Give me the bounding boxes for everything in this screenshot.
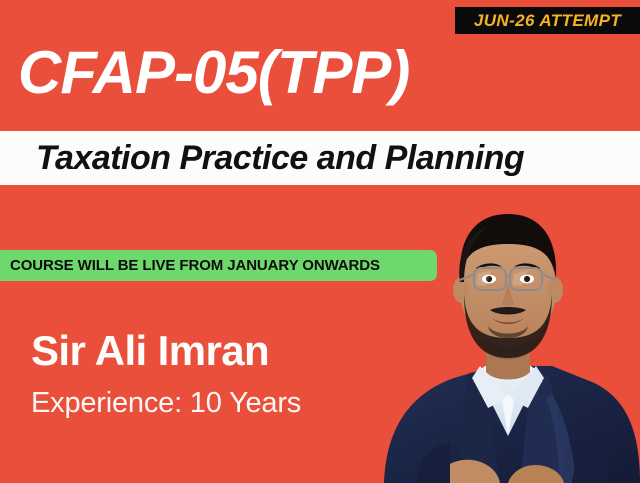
course-subtitle: Taxation Practice and Planning — [36, 139, 524, 178]
live-course-banner: COURSE WILL BE LIVE FROM JANUARY ONWARDS — [0, 250, 437, 281]
instructor-photo — [376, 186, 640, 483]
subtitle-band: Taxation Practice and Planning — [0, 131, 640, 185]
instructor-experience: Experience: 10 Years — [31, 386, 301, 420]
attempt-badge-label: JUN-26 ATTEMPT — [474, 11, 621, 31]
instructor-portrait-graphic — [376, 186, 640, 483]
attempt-badge: JUN-26 ATTEMPT — [455, 7, 640, 34]
course-promo-poster: JUN-26 ATTEMPT CFAP-05(TPP) Taxation Pra… — [0, 0, 640, 483]
live-course-banner-label: COURSE WILL BE LIVE FROM JANUARY ONWARDS — [10, 257, 380, 274]
instructor-name: Sir Ali Imran — [31, 328, 269, 374]
course-code-title: CFAP-05(TPP) — [18, 40, 409, 106]
